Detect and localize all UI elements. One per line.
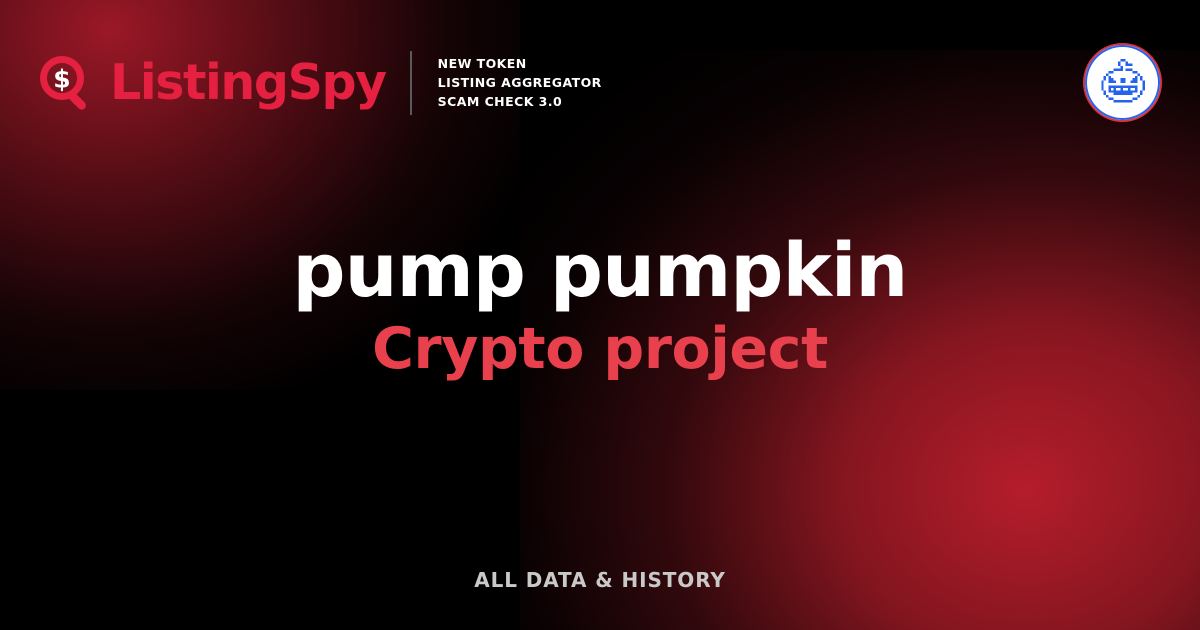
footer-caption: ALL DATA & HISTORY xyxy=(474,568,726,592)
brand-tagline: NEW TOKEN LISTING AGGREGATOR SCAM CHECK … xyxy=(438,55,602,111)
magnifier-dollar-icon: $ xyxy=(40,56,94,110)
brand-divider xyxy=(410,51,412,115)
pixel-pumpkin-icon xyxy=(1094,54,1152,112)
brand-lockup[interactable]: $ ListingSpy xyxy=(40,56,386,110)
header: $ ListingSpy NEW TOKEN LISTING AGGREGATO… xyxy=(0,0,1200,165)
og-card: $ ListingSpy NEW TOKEN LISTING AGGREGATO… xyxy=(0,0,1200,630)
tagline-line-3: SCAM CHECK 3.0 xyxy=(438,93,602,110)
avatar[interactable] xyxy=(1083,43,1162,122)
svg-text:$: $ xyxy=(53,64,70,93)
tagline-line-2: LISTING AGGREGATOR xyxy=(438,74,602,91)
project-heading: pump pumpkin Crypto project xyxy=(0,232,1200,384)
page-title: pump pumpkin xyxy=(0,232,1200,310)
page-subtitle: Crypto project xyxy=(0,316,1200,383)
brand-wordmark: ListingSpy xyxy=(110,58,386,107)
tagline-line-1: NEW TOKEN xyxy=(438,55,602,72)
footer: ALL DATA & HISTORY xyxy=(0,568,1200,592)
